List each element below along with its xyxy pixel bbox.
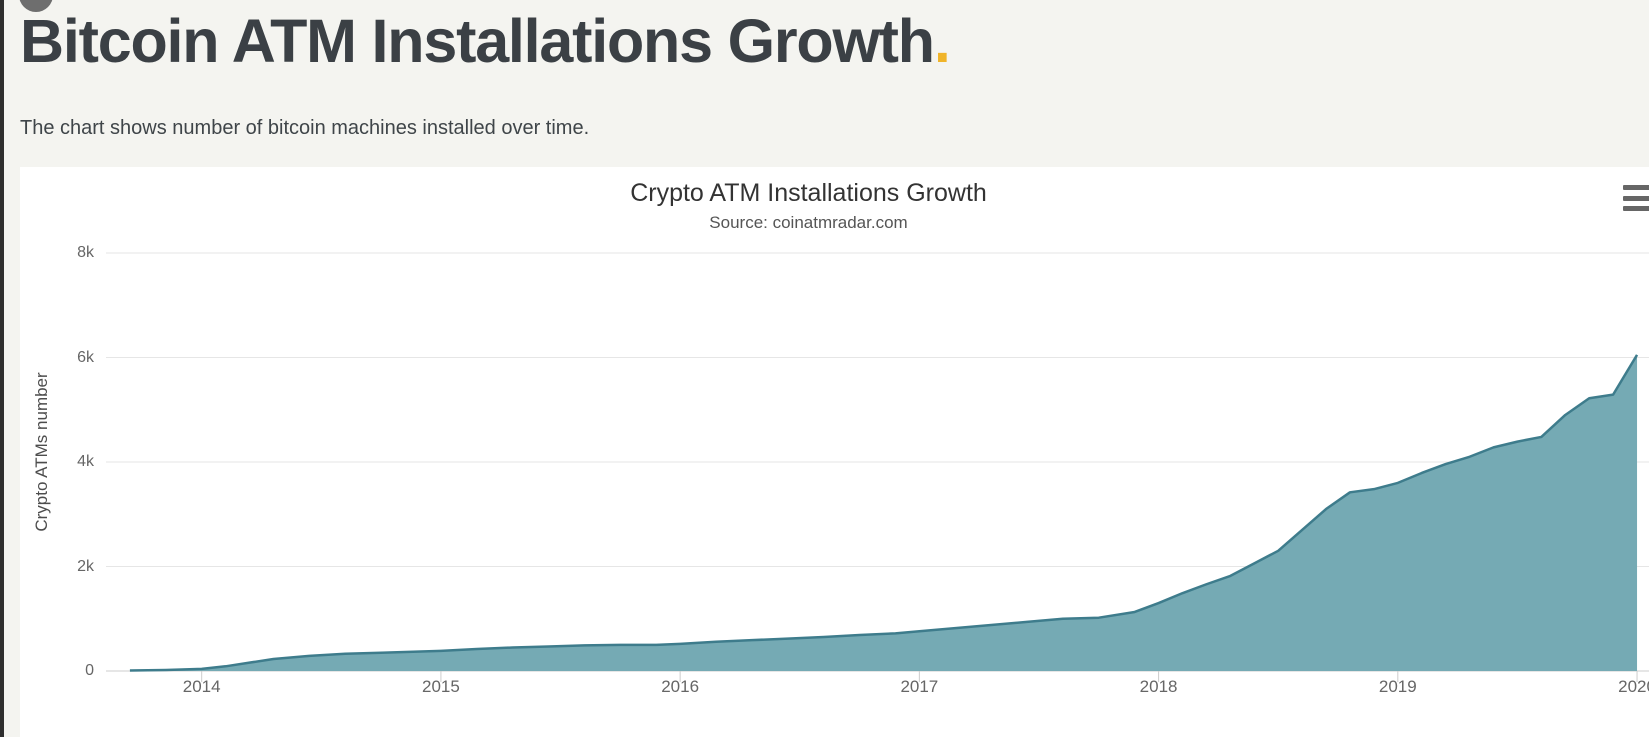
y-tick-label: 8k xyxy=(58,244,94,262)
page-subtitle: The chart shows number of bitcoin machin… xyxy=(20,117,589,140)
y-tick-label: 6k xyxy=(58,349,94,367)
y-axis-title: Crypto ATMs number xyxy=(32,372,52,531)
page-header: Bitcoin ATM Installations Growth. The ch… xyxy=(0,0,1649,167)
y-axis-ticks: 02k4k6k8k xyxy=(58,167,94,737)
page-title: Bitcoin ATM Installations Growth. xyxy=(20,7,950,75)
page-left-border xyxy=(0,0,4,737)
y-tick-label: 4k xyxy=(58,453,94,471)
y-tick-label: 0 xyxy=(58,662,94,680)
page-title-text: Bitcoin ATM Installations Growth xyxy=(20,7,934,75)
area-chart-svg[interactable] xyxy=(106,167,1649,737)
y-tick-label: 2k xyxy=(58,558,94,576)
plot-area: Crypto ATMs number 02k4k6k8k 20142015201… xyxy=(20,167,1649,737)
chart-panel: Crypto ATM Installations Growth Source: … xyxy=(20,167,1649,737)
area-fill xyxy=(130,355,1637,671)
title-accent-dot: . xyxy=(934,7,950,75)
